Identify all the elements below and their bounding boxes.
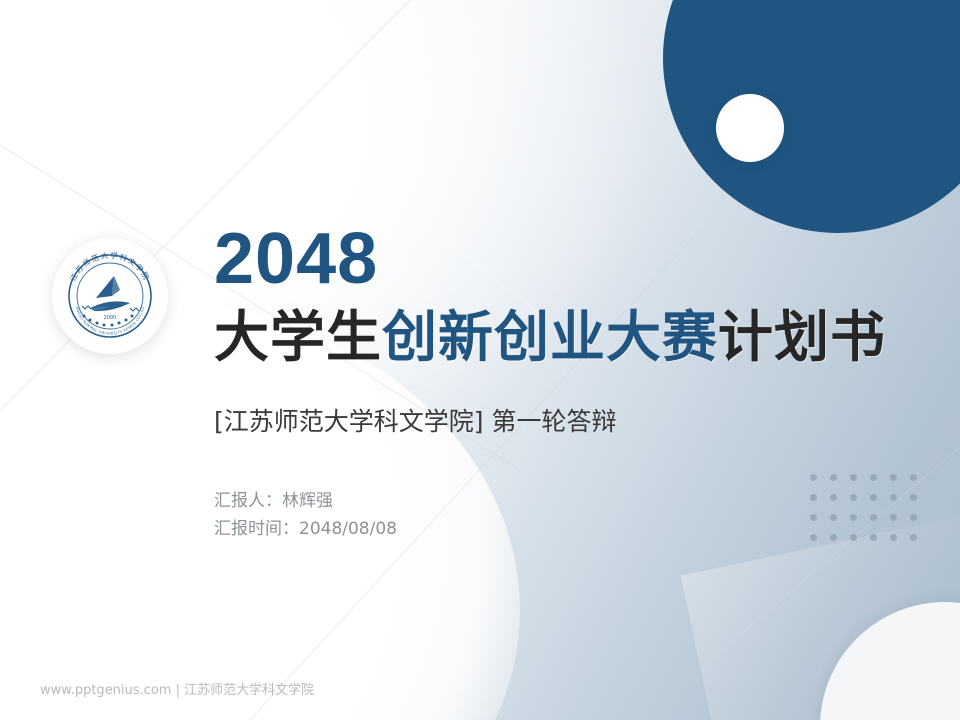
grid-dot <box>830 534 837 541</box>
headline-part-2: 创新创业大赛 <box>382 305 718 369</box>
slide-meta-block: 汇报人：林辉强 汇报时间：2048/08/08 <box>214 487 397 543</box>
grid-dot <box>850 494 857 501</box>
grid-dot <box>850 534 857 541</box>
slide-footer: www.pptgenius.com | 江苏师范大学科文学院 <box>40 679 314 698</box>
grid-dot <box>810 494 817 501</box>
grid-dot <box>890 514 897 521</box>
grid-dot <box>910 534 917 541</box>
grid-dot <box>890 534 897 541</box>
grid-dot <box>910 474 917 481</box>
grid-dot <box>830 494 837 501</box>
grid-dot <box>850 514 857 521</box>
grid-dot <box>810 514 817 521</box>
slide-subtitle: [江苏师范大学科文学院] 第一轮答辩 <box>214 407 616 437</box>
slide-headline: 大学生创新创业大赛计划书 <box>214 308 886 367</box>
presenter-line: 汇报人：林辉强 <box>214 487 397 515</box>
university-seal-icon: 江苏师范大学科文学院 JIANGSU NORMAL UNIVERSITY KEW… <box>60 246 160 346</box>
grid-dot <box>870 514 877 521</box>
headline-part-3: 计划书 <box>718 305 886 369</box>
grid-dot <box>830 474 837 481</box>
grid-dot <box>810 534 817 541</box>
grid-dot <box>910 494 917 501</box>
svg-text:2000: 2000 <box>104 315 117 321</box>
grid-dot <box>810 474 817 481</box>
grid-dot <box>870 494 877 501</box>
headline-part-1: 大学生 <box>214 305 382 369</box>
report-date-line: 汇报时间：2048/08/08 <box>214 515 397 543</box>
slide-year: 2048 <box>214 223 378 295</box>
grid-dot <box>870 534 877 541</box>
presentation-title-slide: 江苏师范大学科文学院 JIANGSU NORMAL UNIVERSITY KEW… <box>0 0 960 720</box>
grid-dot <box>870 474 877 481</box>
grid-dot <box>850 474 857 481</box>
university-logo: 江苏师范大学科文学院 JIANGSU NORMAL UNIVERSITY KEW… <box>52 238 168 354</box>
decorative-dot-grid <box>810 474 930 554</box>
grid-dot <box>890 494 897 501</box>
decorative-white-circle-small <box>716 94 784 162</box>
grid-dot <box>830 514 837 521</box>
grid-dot <box>890 474 897 481</box>
grid-dot <box>910 514 917 521</box>
